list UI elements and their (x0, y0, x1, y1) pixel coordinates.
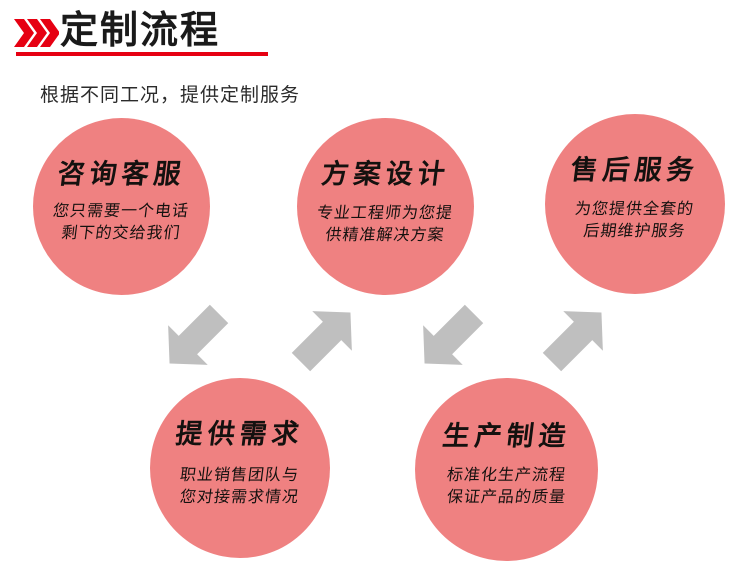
process-step-circle-4[interactable]: 生产制造 标准化生产流程 保证产品的质量 (415, 378, 598, 561)
step-line: 您对接需求情况 (179, 486, 301, 508)
custom-process-infographic: 定制流程 根据不同工况，提供定制服务 咨询客服 您只需要一个电话 剩下的交给我们… (0, 0, 750, 571)
step-heading: 咨询客服 (55, 152, 188, 191)
arrow-up-right-icon (536, 298, 616, 378)
step-line: 后期维护服务 (574, 220, 696, 242)
step-body: 标准化生产流程 保证产品的质量 (447, 464, 566, 508)
step-heading: 生产制造 (440, 414, 573, 453)
page-subtitle: 根据不同工况，提供定制服务 (40, 80, 300, 107)
process-step-circle-1[interactable]: 咨询客服 您只需要一个电话 剩下的交给我们 (33, 118, 210, 295)
step-line: 标准化生产流程 (446, 464, 568, 486)
step-body: 您只需要一个电话 剩下的交给我们 (53, 200, 189, 244)
triple-chevron-right-icon (13, 17, 59, 49)
arrow-down-right-icon (155, 298, 235, 378)
step-heading: 方案设计 (319, 152, 452, 191)
step-heading: 售后服务 (569, 148, 702, 187)
step-line: 供精准解决方案 (316, 224, 455, 246)
step-line: 剩下的交给我们 (52, 222, 191, 244)
step-body: 职业销售团队与 您对接需求情况 (180, 464, 299, 508)
step-body: 为您提供全套的 后期维护服务 (575, 198, 694, 242)
page-header: 定制流程 (0, 0, 750, 70)
process-step-circle-5[interactable]: 售后服务 为您提供全套的 后期维护服务 (545, 114, 725, 294)
arrow-up-right-icon (285, 298, 365, 378)
step-line: 专业工程师为您提 (316, 202, 455, 224)
step-line: 职业销售团队与 (179, 464, 301, 486)
process-step-circle-3[interactable]: 方案设计 专业工程师为您提 供精准解决方案 (297, 118, 474, 295)
step-heading: 提供需求 (174, 412, 307, 451)
step-line: 为您提供全套的 (574, 198, 696, 220)
step-body: 专业工程师为您提 供精准解决方案 (317, 202, 453, 246)
arrow-down-right-icon (410, 298, 490, 378)
step-line: 保证产品的质量 (446, 486, 568, 508)
page-title: 定制流程 (60, 8, 220, 52)
title-underline (16, 52, 268, 56)
process-step-circle-2[interactable]: 提供需求 职业销售团队与 您对接需求情况 (150, 378, 330, 558)
step-line: 您只需要一个电话 (52, 200, 191, 222)
